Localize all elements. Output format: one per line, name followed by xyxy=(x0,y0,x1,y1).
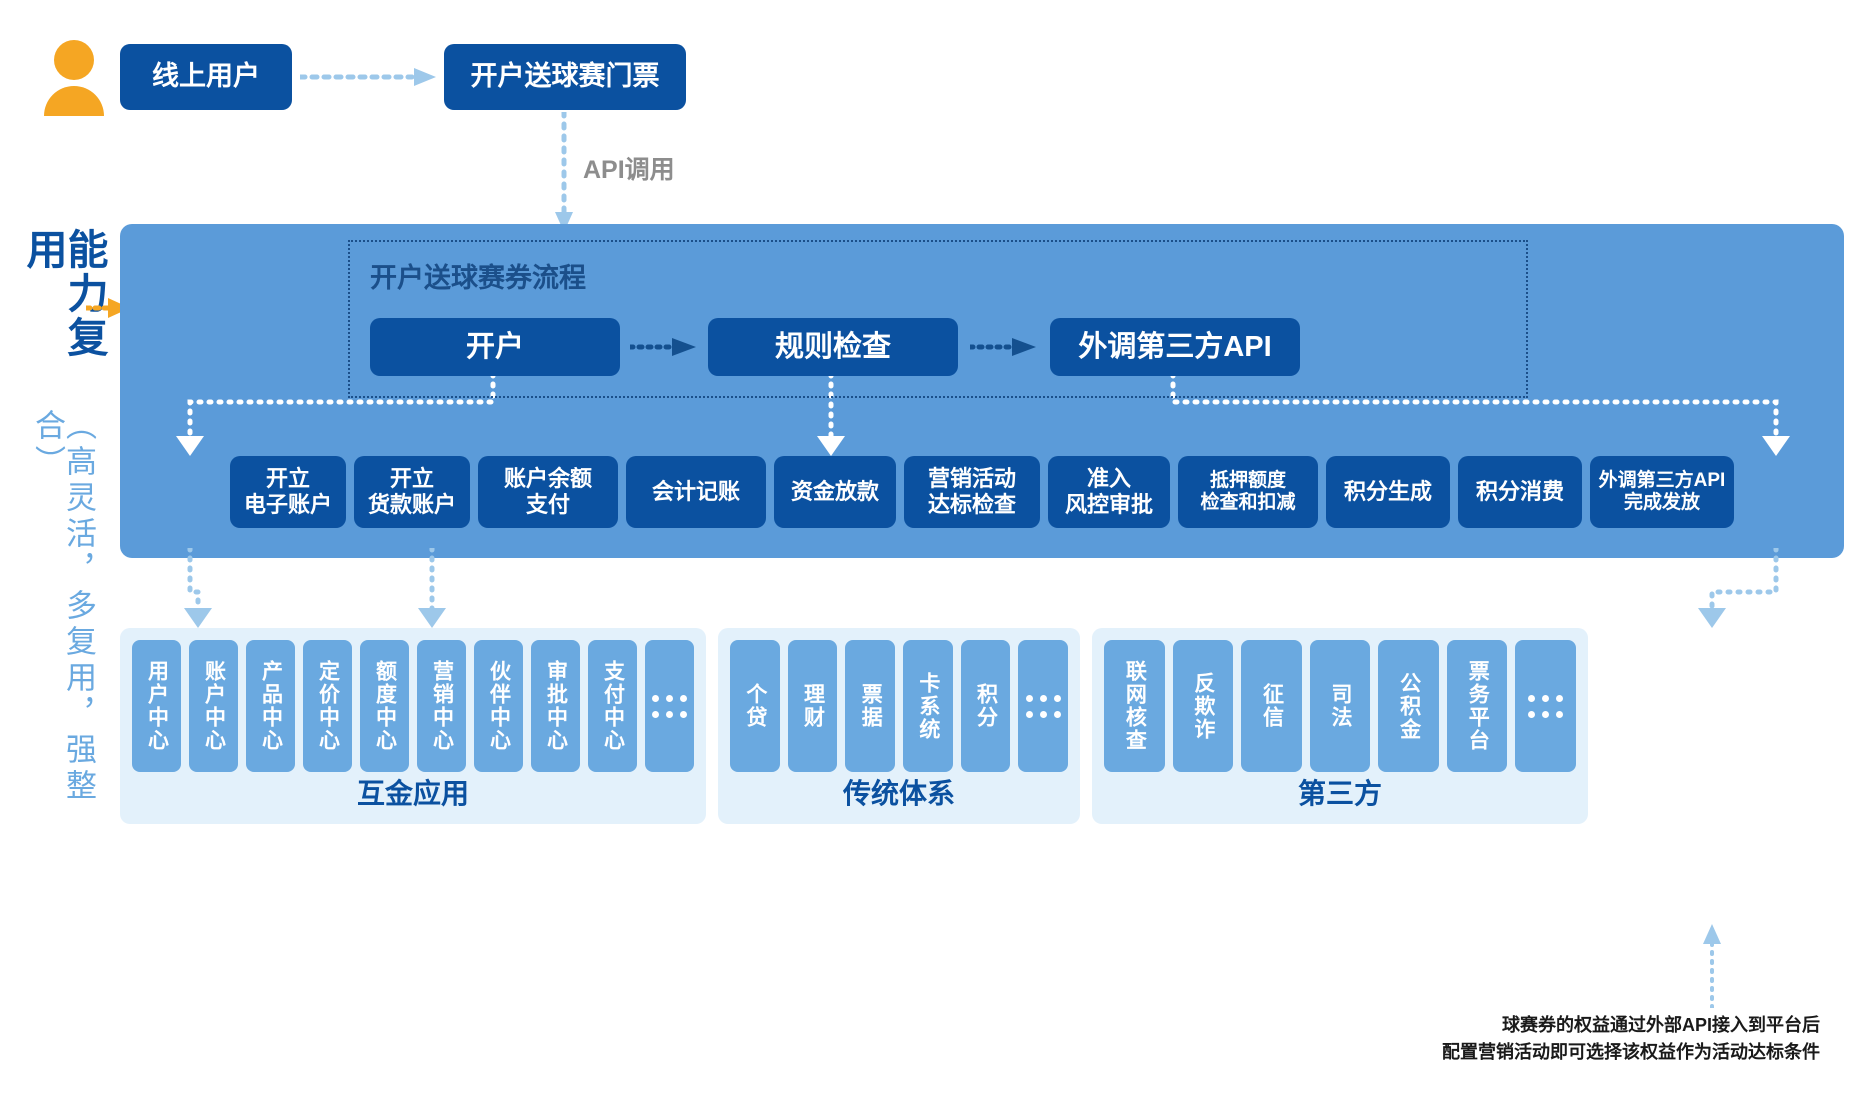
group-chip[interactable]: 票据 xyxy=(845,640,895,772)
group-chip-label: 产品中心 xyxy=(259,660,281,752)
flow-step-open-account[interactable]: 开户 xyxy=(370,318,620,376)
capability-box[interactable]: 账户余额 支付 xyxy=(478,456,618,528)
group-chip-label: 理财 xyxy=(801,683,823,729)
group-chip-label: 票务平台 xyxy=(1466,660,1488,752)
group-chip-more[interactable] xyxy=(1515,640,1576,772)
group-chip[interactable]: 积分 xyxy=(961,640,1011,772)
ticket-offer-box[interactable]: 开户送球赛门票 xyxy=(444,44,686,110)
ellipsis-icon xyxy=(1026,695,1061,718)
user-avatar-icon xyxy=(38,38,110,116)
group-chip-label: 司法 xyxy=(1329,683,1351,729)
group-chip-label: 卡系统 xyxy=(917,672,939,741)
capability-box[interactable]: 积分消费 xyxy=(1458,456,1582,528)
group-chip-label: 联网核查 xyxy=(1123,660,1145,752)
group-chip-label: 定价中心 xyxy=(316,660,338,752)
ticket-offer-label: 开户送球赛门票 xyxy=(471,61,660,93)
group-items: 个贷理财票据卡系统积分 xyxy=(730,640,1068,772)
capability-label: 会计记账 xyxy=(652,479,740,505)
group-chip[interactable]: 反欺诈 xyxy=(1173,640,1234,772)
group-title: 互金应用 xyxy=(120,772,706,812)
flow-arrow-2-icon xyxy=(970,336,1040,358)
online-user-label: 线上用户 xyxy=(152,61,260,93)
group-chip[interactable]: 审批中心 xyxy=(531,640,580,772)
flow-step-third-party-api[interactable]: 外调第三方API xyxy=(1050,318,1300,376)
capability-label: 抵押额度 检查和扣减 xyxy=(1200,470,1295,515)
flow-group-title: 开户送球赛券流程 xyxy=(370,256,586,295)
capability-box[interactable]: 外调第三方API 完成发放 xyxy=(1590,456,1734,528)
group-chip[interactable]: 用户中心 xyxy=(132,640,181,772)
online-user-box[interactable]: 线上用户 xyxy=(120,44,292,110)
group-chip-label: 反欺诈 xyxy=(1192,672,1214,741)
ellipsis-icon xyxy=(652,695,687,718)
group-chip-label: 积分 xyxy=(975,683,997,729)
flow-step-label: 规则检查 xyxy=(775,330,891,364)
group-chip[interactable]: 支付中心 xyxy=(588,640,637,772)
capability-label: 营销活动 达标检查 xyxy=(928,466,1016,518)
capability-box[interactable]: 抵押额度 检查和扣减 xyxy=(1178,456,1318,528)
group-chip[interactable]: 产品中心 xyxy=(246,640,295,772)
group-chip[interactable]: 账户中心 xyxy=(189,640,238,772)
group-chip-label: 额度中心 xyxy=(373,660,395,752)
api-call-label: API调用 xyxy=(583,150,675,186)
group-chip[interactable]: 公积金 xyxy=(1378,640,1439,772)
group-items: 联网核查反欺诈征信司法公积金票务平台 xyxy=(1104,640,1576,772)
group-chip[interactable]: 司法 xyxy=(1310,640,1371,772)
group-traditional-systems: 个贷理财票据卡系统积分 传统体系 xyxy=(718,628,1080,824)
group-chip[interactable]: 征信 xyxy=(1241,640,1302,772)
capability-label: 开立 电子账户 xyxy=(244,466,332,518)
group-chip-more[interactable] xyxy=(645,640,694,772)
group-chip-label: 伙伴中心 xyxy=(487,660,509,752)
group-chip-label: 用户中心 xyxy=(145,660,167,752)
group-chip-label: 审批中心 xyxy=(544,660,566,752)
capability-label: 开立 货款账户 xyxy=(368,466,456,518)
ellipsis-icon xyxy=(1528,695,1563,718)
arrow-footnote-to-ticket-platform-icon xyxy=(1700,922,1724,1008)
diagram-canvas: 线上用户 开户送球赛门票 API调用 能力复用 （高灵活，多复用，强整合） xyxy=(0,0,1876,1097)
arrow-user-to-ticket-icon xyxy=(300,66,440,88)
capability-label: 外调第三方API 完成发放 xyxy=(1599,470,1726,515)
flow-group-frame: 开户送球赛券流程 开户 规则检查 外调第三方API xyxy=(348,240,1528,398)
group-chip[interactable]: 卡系统 xyxy=(903,640,953,772)
group-items: 用户中心账户中心产品中心定价中心额度中心营销中心伙伴中心审批中心支付中心 xyxy=(132,640,694,772)
group-chip-label: 账户中心 xyxy=(202,660,224,752)
flow-step-rule-check[interactable]: 规则检查 xyxy=(708,318,958,376)
arrow-api-call-icon xyxy=(552,112,576,234)
capability-box[interactable]: 营销活动 达标检查 xyxy=(904,456,1040,528)
group-chip[interactable]: 额度中心 xyxy=(360,640,409,772)
group-third-party: 联网核查反欺诈征信司法公积金票务平台 第三方 xyxy=(1092,628,1588,824)
group-chip[interactable]: 个贷 xyxy=(730,640,780,772)
capability-label: 资金放款 xyxy=(791,479,879,505)
capability-box[interactable]: 会计记账 xyxy=(626,456,766,528)
bottom-dotted-connectors xyxy=(0,548,1876,638)
capability-box[interactable]: 准入 风控审批 xyxy=(1048,456,1170,528)
flow-step-label: 开户 xyxy=(466,330,524,364)
group-chip-label: 征信 xyxy=(1260,683,1282,729)
group-chip-label: 营销中心 xyxy=(430,660,452,752)
group-chip-label: 公积金 xyxy=(1398,672,1420,741)
capability-box[interactable]: 积分生成 xyxy=(1326,456,1450,528)
group-chip-label: 票据 xyxy=(859,683,881,729)
group-chip[interactable]: 定价中心 xyxy=(303,640,352,772)
capability-label: 准入 风控审批 xyxy=(1065,466,1153,518)
capability-box[interactable]: 开立 电子账户 xyxy=(230,456,346,528)
group-chip-label: 个贷 xyxy=(744,683,766,729)
capability-label: 账户余额 支付 xyxy=(504,466,592,518)
group-internet-finance-apps: 用户中心账户中心产品中心定价中心额度中心营销中心伙伴中心审批中心支付中心 互金应… xyxy=(120,628,706,824)
group-chip-label: 支付中心 xyxy=(601,660,623,752)
capability-reuse-caption: 能力复用 （高灵活，多复用，强整合） xyxy=(30,228,96,858)
footnote-text: 球赛券的权益通过外部API接入到平台后 配置营销活动即可选择该权益作为活动达标条… xyxy=(1180,1012,1820,1066)
capability-platform-panel: 开户送球赛券流程 开户 规则检查 外调第三方API 开立 电子账户开立 货款账户… xyxy=(120,224,1844,558)
capability-box[interactable]: 开立 货款账户 xyxy=(354,456,470,528)
capability-label: 积分消费 xyxy=(1476,479,1564,505)
group-chip[interactable]: 联网核查 xyxy=(1104,640,1165,772)
group-title: 传统体系 xyxy=(718,772,1080,812)
group-chip[interactable]: 伙伴中心 xyxy=(474,640,523,772)
group-chip[interactable]: 营销中心 xyxy=(417,640,466,772)
flow-step-label: 外调第三方API xyxy=(1078,330,1271,364)
flow-arrow-1-icon xyxy=(630,336,700,358)
capability-label: 积分生成 xyxy=(1344,479,1432,505)
group-chip-more[interactable] xyxy=(1018,640,1068,772)
group-title: 第三方 xyxy=(1092,772,1588,812)
group-chip[interactable]: 理财 xyxy=(788,640,838,772)
group-chip[interactable]: 票务平台 xyxy=(1447,640,1508,772)
capability-box[interactable]: 资金放款 xyxy=(774,456,896,528)
